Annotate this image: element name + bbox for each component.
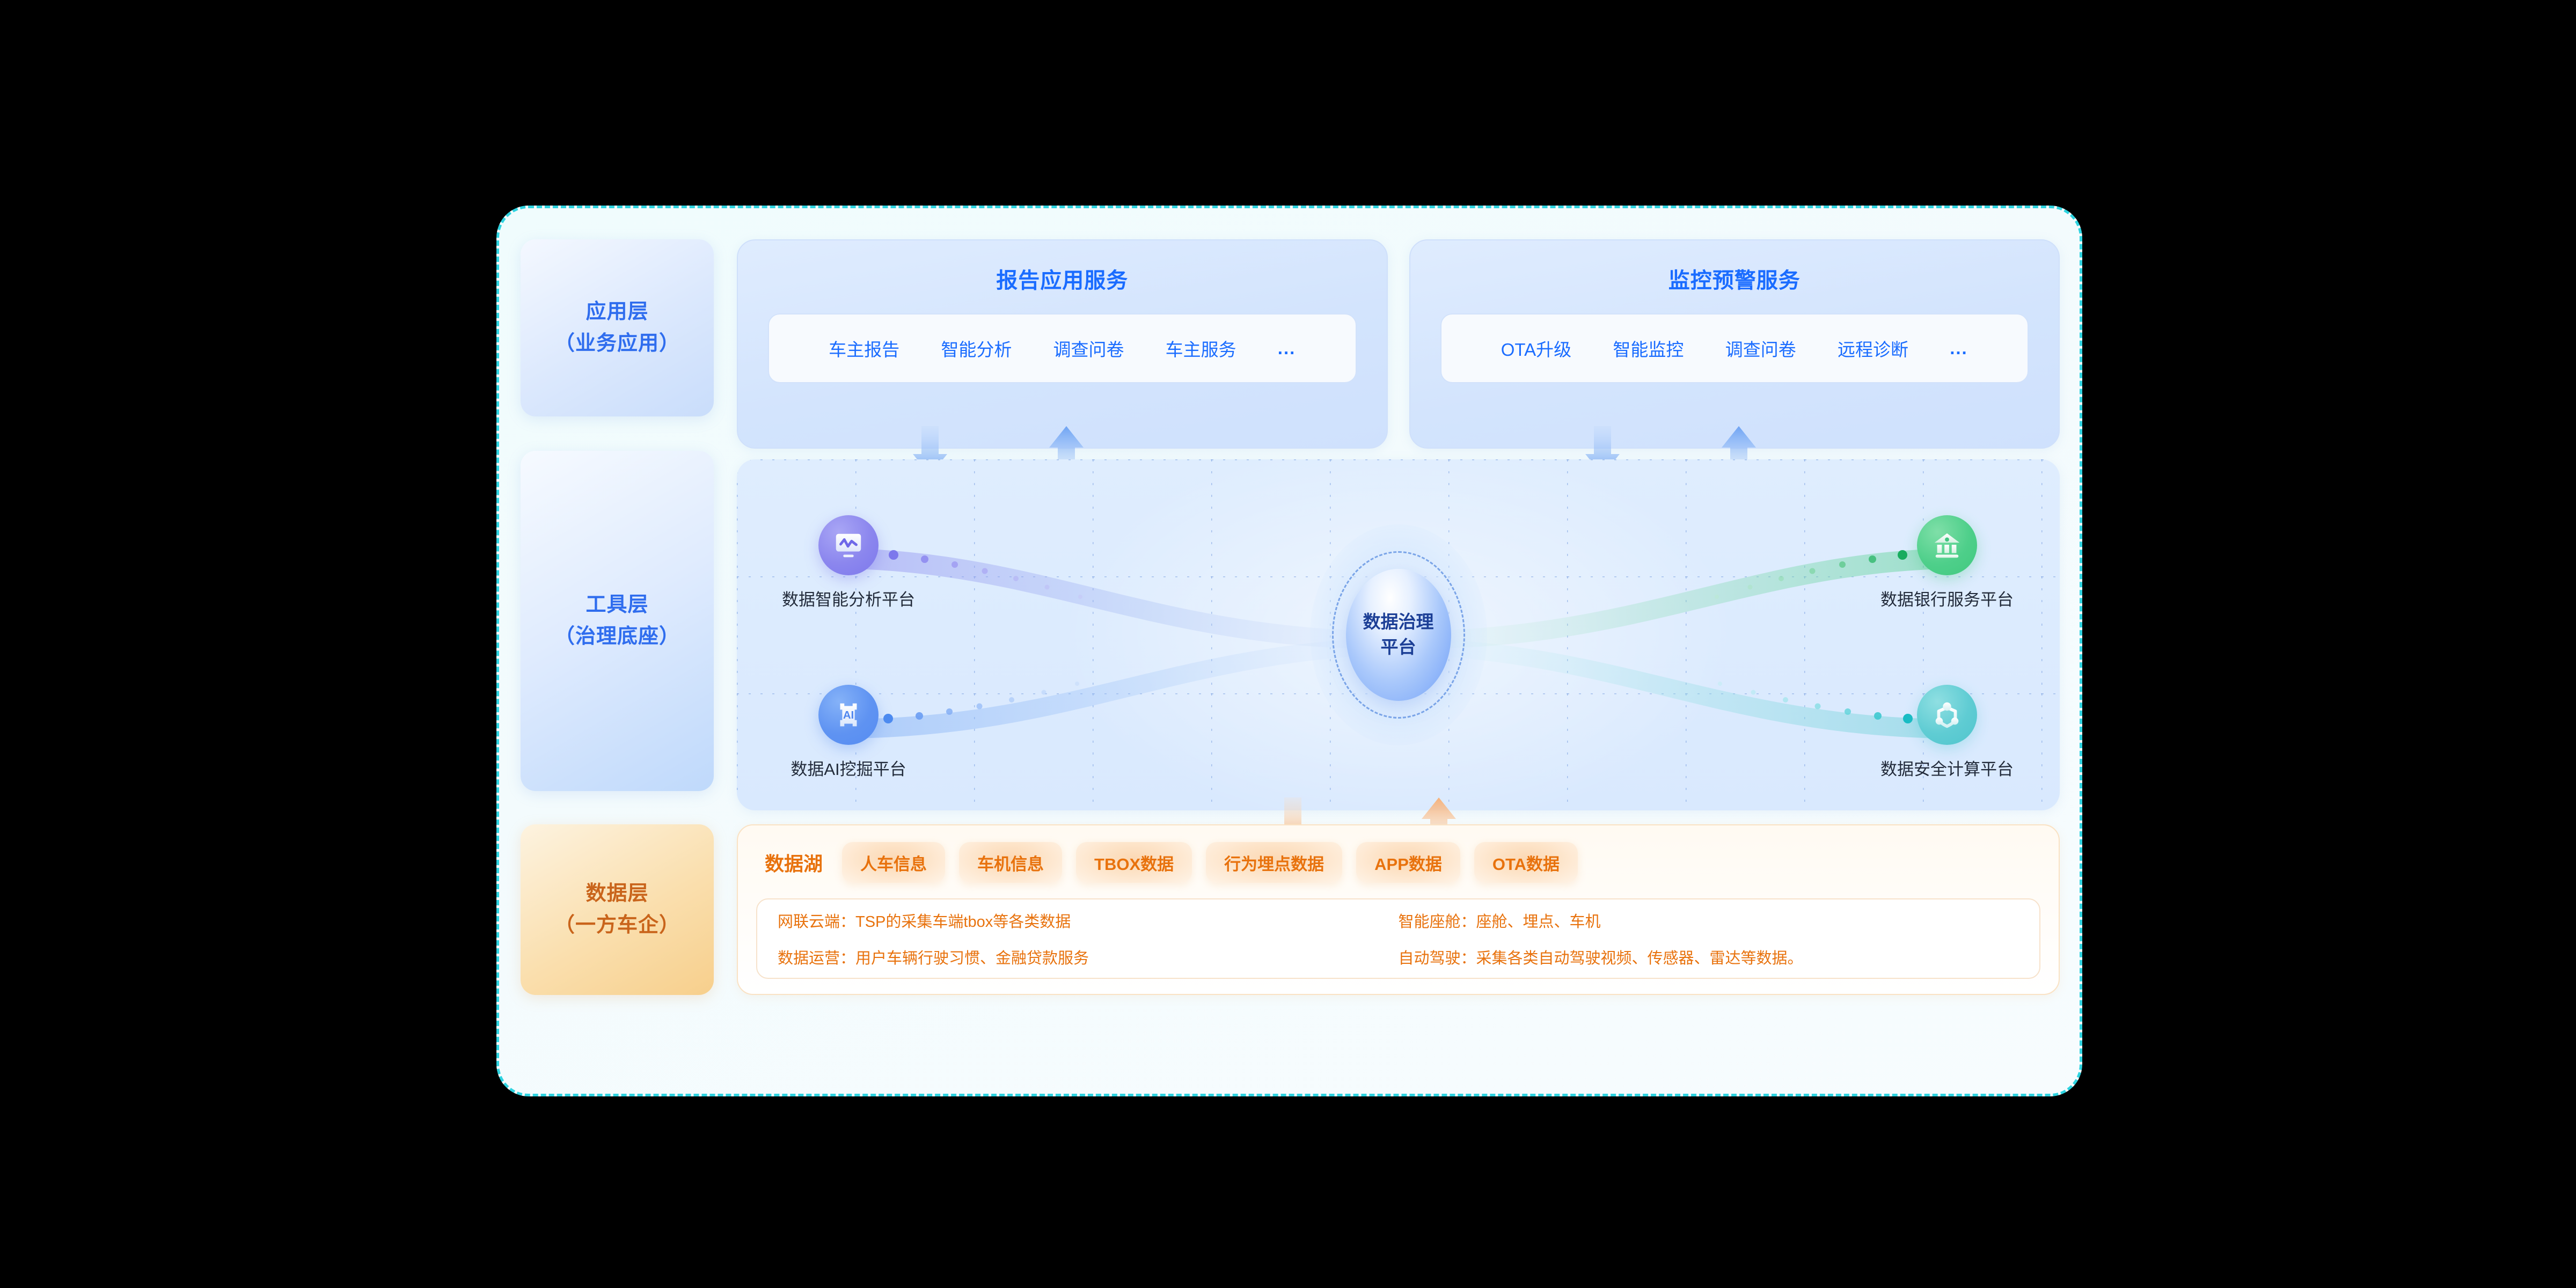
data-governance-platform-hub[interactable]: 数据治理 平台 [1307, 522, 1490, 748]
data-source-description: 智能座舱：座舱、埋点、车机 [1399, 909, 2019, 932]
data-lake-tag[interactable]: 人车信息 [842, 842, 945, 883]
data-source-description: 网联云端：TSP的采集车端tbox等各类数据 [778, 909, 1399, 932]
application-layer-section: 报告应用服务 车主报告 智能分析 调查问卷 车主服务 ... [737, 239, 2060, 449]
data-lake-tag[interactable]: TBOX数据 [1076, 842, 1192, 883]
platform-node-data-bank[interactable]: 数据银行服务平台 [1867, 515, 2028, 610]
data-source-description: 数据运营：用户车辆行驶习惯、金融贷款服务 [778, 946, 1399, 968]
platform-node-analysis-label: 数据智能分析平台 [768, 586, 929, 610]
service-tag[interactable]: 车主服务 [1166, 335, 1236, 361]
hub-core: 数据治理 平台 [1346, 569, 1451, 701]
platform-node-ai-mining-label: 数据AI挖掘平台 [768, 756, 929, 780]
rail-data-line1: 数据层 [554, 878, 680, 910]
service-card-monitoring-tag-list: OTA升级 智能监控 调查问卷 远程诊断 ... [1440, 313, 2029, 383]
data-lake-tag[interactable]: 车机信息 [959, 842, 1062, 883]
data-lake-tag[interactable]: OTA数据 [1474, 842, 1578, 883]
service-card-report[interactable]: 报告应用服务 车主报告 智能分析 调查问卷 车主服务 ... [737, 239, 1388, 449]
service-tag-more[interactable]: ... [1278, 338, 1296, 358]
service-tag-more[interactable]: ... [1950, 338, 1968, 358]
hub-label: 数据治理 平台 [1363, 610, 1434, 660]
service-card-monitoring[interactable]: 监控预警服务 OTA升级 智能监控 调查问卷 远程诊断 ... [1409, 239, 2060, 449]
service-tag[interactable]: OTA升级 [1501, 335, 1571, 361]
platform-node-ai-mining[interactable]: AI 数据AI挖掘平台 [768, 685, 929, 780]
rail-tool-line2: （治理底座） [554, 621, 680, 653]
svg-text:AI: AI [843, 709, 854, 721]
service-tag[interactable]: 调查问卷 [1053, 335, 1124, 361]
bank-icon [1917, 515, 1977, 575]
data-lake-tag[interactable]: APP数据 [1356, 842, 1460, 883]
rail-label-application-layer: 应用层 （业务应用） [521, 239, 714, 416]
service-tag[interactable]: 调查问卷 [1725, 335, 1796, 361]
service-tag[interactable]: 智能分析 [941, 335, 1012, 361]
tool-layer-section: 数据治理 平台 数据智能分析平台 [737, 459, 2060, 810]
platform-node-data-bank-label: 数据银行服务平台 [1867, 586, 2028, 610]
service-card-report-title: 报告应用服务 [768, 263, 1357, 294]
data-lake-title: 数据湖 [765, 848, 823, 876]
data-lake-tag[interactable]: 行为埋点数据 [1206, 842, 1342, 883]
platform-node-analysis[interactable]: 数据智能分析平台 [768, 515, 929, 610]
service-tag[interactable]: 车主报告 [829, 335, 899, 361]
rail-label-data-layer: 数据层 （一方车企） [521, 824, 714, 995]
service-card-report-tag-list: 车主报告 智能分析 调查问卷 车主服务 ... [768, 313, 1357, 383]
rail-data-line2: （一方车企） [554, 910, 680, 941]
rail-app-line2: （业务应用） [554, 328, 680, 360]
service-tag[interactable]: 智能监控 [1613, 335, 1684, 361]
hub-label-line1: 数据治理 [1363, 612, 1434, 632]
platform-node-secure-compute[interactable]: 数据安全计算平台 [1867, 685, 2028, 780]
rail-tool-line1: 工具层 [554, 589, 680, 621]
ai-icon: AI [818, 685, 879, 745]
service-tag[interactable]: 远程诊断 [1838, 335, 1908, 361]
monitor-chart-icon [818, 515, 879, 575]
hub-label-line2: 平台 [1381, 637, 1416, 657]
service-card-monitoring-title: 监控预警服务 [1440, 263, 2029, 294]
data-layer-section: 数据湖 人车信息 车机信息 TBOX数据 行为埋点数据 APP数据 OTA数据 … [737, 824, 2060, 995]
platform-node-secure-compute-label: 数据安全计算平台 [1867, 756, 2028, 780]
shield-network-icon [1917, 685, 1977, 745]
data-source-description: 自动驾驶：采集各类自动驾驶视频、传感器、雷达等数据。 [1399, 946, 2019, 968]
rail-app-line1: 应用层 [554, 296, 680, 328]
architecture-diagram-frame: 应用层 （业务应用） 工具层 （治理底座） 数据层 （一方车企） 报告应用服务 … [496, 206, 2082, 1096]
data-source-description-panel: 网联云端：TSP的采集车端tbox等各类数据 智能座舱：座舱、埋点、车机 数据运… [756, 898, 2040, 979]
data-lake-row: 数据湖 人车信息 车机信息 TBOX数据 行为埋点数据 APP数据 OTA数据 [756, 839, 2040, 885]
rail-label-tool-layer: 工具层 （治理底座） [521, 451, 714, 791]
